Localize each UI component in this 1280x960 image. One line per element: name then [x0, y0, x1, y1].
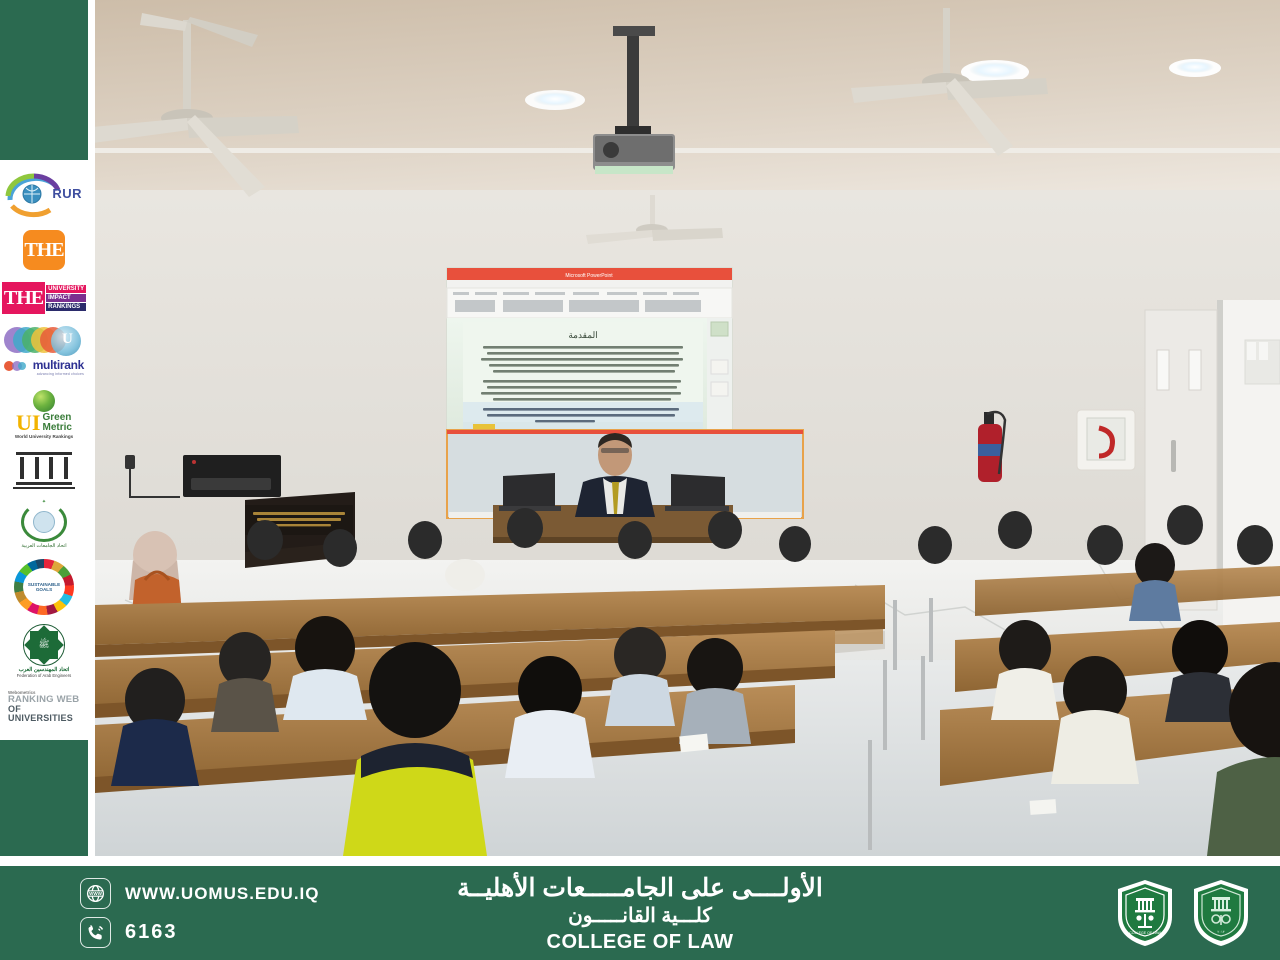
greenmetric-tagline: World University Rankings	[4, 434, 84, 439]
sidebar-item-the-impact[interactable]: THE UNIVERSITY IMPACT RANKINGS	[3, 276, 85, 320]
multirank-tagline: advancing informed choices	[28, 372, 84, 376]
svg-text:٢٠١٣: ٢٠١٣	[1217, 930, 1224, 934]
sdg-label-goals: GOALS	[36, 587, 52, 592]
sidebar-item-sdg[interactable]: SUSTAINABLE GOALS	[3, 556, 85, 618]
ui-greenmetric-icon: UI Green Metric World University Ranking…	[4, 390, 84, 439]
greenmetric-metric: Metric	[43, 423, 72, 433]
photo-scene: Microsoft PowerPoint المقدمة	[95, 0, 1280, 856]
classical-temple-icon	[16, 452, 72, 489]
arab-universities-label: اتحاد الجامعات العربية	[7, 543, 81, 549]
lecture-hall-photograph: Microsoft PowerPoint المقدمة	[95, 0, 1280, 856]
sidebar-item-webometrics[interactable]: Webometrics RANKING WEB OF UNIVERSITIES	[3, 684, 85, 730]
svg-text:المقدمة: المقدمة	[568, 330, 597, 340]
sidebar-item-rur[interactable]: RUR	[3, 166, 85, 224]
the-logo-icon: THE	[23, 230, 65, 270]
college-name-arabic: كلـــية القانـــــون	[0, 904, 1280, 929]
college-of-law-shield-icon[interactable]: COLLEGE OF LAW	[1114, 878, 1176, 948]
laptop-icon	[503, 473, 555, 509]
arab-engineers-label-en: Federation of Arab Engineers	[7, 673, 81, 678]
footer-title-block: الأولــــى على الجامـــــعات الأهليــة ك…	[0, 874, 1280, 955]
svg-text:Microsoft PowerPoint: Microsoft PowerPoint	[565, 273, 613, 279]
brand-footer: WWW WWW.UOMUS.EDU.IQ 6163 الأولــــى على…	[0, 866, 1280, 960]
rur-wordmark: RUR	[52, 186, 82, 201]
university-shield-icon[interactable]: ٢٠١٣	[1190, 878, 1252, 948]
sidebar-item-the[interactable]: THE	[3, 224, 85, 276]
federation-arab-engineers-icon: ﷺ اتحاد المهندسين العرب Federation of Ar…	[7, 624, 81, 678]
rur-logo-icon: RUR	[4, 166, 84, 224]
u-multirank-icon: U multirank advancing informed choices	[4, 327, 84, 376]
association-arab-universities-icon: ✦ اتحاد الجامعات العربية	[7, 502, 81, 549]
the-impact-line1: UNIVERSITY	[46, 285, 86, 293]
webometrics-icon: Webometrics RANKING WEB OF UNIVERSITIES	[4, 690, 84, 723]
projection-screen: Microsoft PowerPoint المقدمة	[447, 268, 732, 446]
sidebar-item-arab-engineers[interactable]: ﷺ اتحاد المهندسين العرب Federation of Ar…	[3, 618, 85, 684]
sidebar-item-multirank[interactable]: U multirank advancing informed choices	[3, 320, 85, 382]
sidebar-item-pillars[interactable]	[3, 446, 85, 494]
greenmetric-green: Green	[43, 413, 72, 423]
ui-wordmark: UI	[16, 413, 40, 433]
tagline-arabic: الأولــــى على الجامـــــعات الأهليــة	[0, 874, 1280, 904]
college-name-english: COLLEGE OF LAW	[0, 929, 1280, 955]
the-impact-line2: IMPACT	[46, 294, 86, 302]
svg-text:COLLEGE OF LAW: COLLEGE OF LAW	[1129, 931, 1161, 935]
sdg-wheel-icon: SUSTAINABLE GOALS	[14, 559, 74, 615]
fire-hose-cabinet	[1077, 410, 1135, 470]
the-impact-rankings-icon: THE UNIVERSITY IMPACT RANKINGS	[2, 282, 86, 314]
laptop-icon	[671, 474, 725, 510]
the-impact-wordmark: THE	[2, 282, 45, 314]
green-globe-icon	[33, 390, 55, 412]
the-impact-line3: RANKINGS	[46, 303, 86, 311]
sidebar-item-ui-greenmetric[interactable]: UI Green Metric World University Ranking…	[3, 382, 85, 446]
rail-photo-seam	[88, 0, 95, 866]
sidebar-item-arab-universities[interactable]: ✦ اتحاد الجامعات العربية	[3, 494, 85, 556]
multirank-wordmark: multirank	[28, 358, 84, 372]
photo-footer-seam	[0, 856, 1280, 866]
ranking-logo-panel: RUR THE THE UNIVERSITY IMPACT RANKINGS	[0, 160, 88, 740]
webometrics-line2: OF UNIVERSITIES	[8, 705, 84, 724]
sidebar-rail: RUR THE THE UNIVERSITY IMPACT RANKINGS	[0, 0, 88, 866]
footer-crests: COLLEGE OF LAW ٢٠١٣	[1114, 878, 1252, 948]
